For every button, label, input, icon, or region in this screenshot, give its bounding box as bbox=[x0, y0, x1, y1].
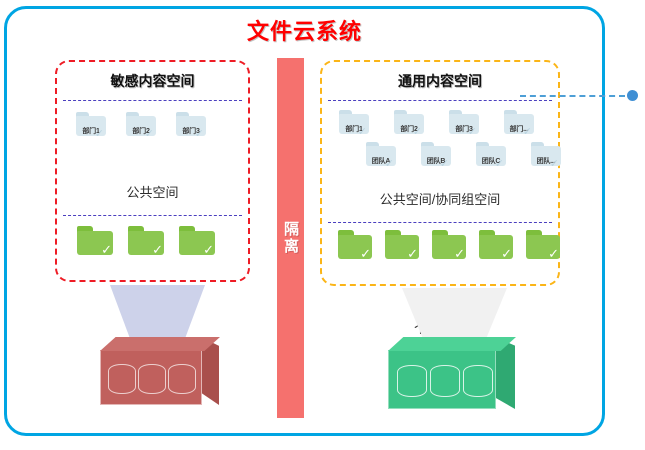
general-public-space-label: 公共空间/协同组空间 bbox=[322, 189, 558, 208]
page-title: 文件云系统 bbox=[0, 14, 609, 46]
check-icon: ✓ bbox=[95, 129, 104, 140]
check-icon: ✓ bbox=[413, 127, 422, 138]
general-panel-divider-top bbox=[328, 100, 552, 101]
check-icon: ✓ bbox=[501, 247, 512, 260]
general-dept-folder-row: 部门1 ✓ 部门2 ✓ 部门3 ✓ 部门... ✓ bbox=[339, 110, 534, 134]
storage-top-face bbox=[388, 337, 516, 351]
check-icon: ✓ bbox=[523, 127, 532, 138]
check-icon: ✓ bbox=[385, 159, 394, 170]
general-panel-divider-mid bbox=[328, 222, 552, 223]
sensitive-panel-divider-top bbox=[63, 100, 242, 101]
folder-icon-personal-2[interactable]: ✓ bbox=[385, 230, 419, 259]
database-cylinder-icon bbox=[463, 365, 493, 397]
general-content-space-panel[interactable]: 通用内容空间 部门1 ✓ 部门2 ✓ 部门3 ✓ bbox=[320, 60, 560, 286]
database-cylinder-icon bbox=[430, 365, 460, 397]
database-cylinder-icon bbox=[108, 364, 136, 394]
check-icon: ✓ bbox=[495, 159, 504, 170]
folder-icon-dept-3[interactable]: 部门3 ✓ bbox=[176, 112, 206, 136]
storage-top-face bbox=[100, 337, 220, 351]
check-icon: ✓ bbox=[358, 127, 367, 138]
folder-icon-dept-1[interactable]: 部门1 ✓ bbox=[76, 112, 106, 136]
database-cylinder-icon bbox=[138, 364, 166, 394]
folder-icon-personal-3[interactable]: ✓ bbox=[179, 226, 215, 255]
database-cylinder-icon bbox=[397, 365, 427, 397]
check-icon: ✓ bbox=[440, 159, 449, 170]
isolation-barrier: 隔离 bbox=[277, 58, 304, 418]
folder-icon-personal-2[interactable]: ✓ bbox=[128, 226, 164, 255]
sensitive-personal-folder-row: ✓ ✓ ✓ bbox=[77, 226, 215, 255]
check-icon: ✓ bbox=[407, 247, 418, 260]
folder-icon-team-c[interactable]: 团队C ✓ bbox=[476, 142, 506, 166]
folder-icon-personal-3[interactable]: ✓ bbox=[432, 230, 466, 259]
database-cylinder-icon bbox=[168, 364, 196, 394]
general-personal-folder-row: ✓ ✓ ✓ ✓ ✓ bbox=[338, 230, 560, 259]
check-icon: ✓ bbox=[152, 243, 163, 256]
folder-icon-dept-3[interactable]: 部门3 ✓ bbox=[449, 110, 479, 134]
folder-icon-team-more[interactable]: 团队... ✓ bbox=[531, 142, 561, 166]
folder-icon-personal-1[interactable]: ✓ bbox=[338, 230, 372, 259]
folder-icon-personal-4[interactable]: ✓ bbox=[479, 230, 513, 259]
folder-icon-team-b[interactable]: 团队B ✓ bbox=[421, 142, 451, 166]
check-icon: ✓ bbox=[203, 243, 214, 256]
folder-icon-personal-5[interactable]: ✓ bbox=[526, 230, 560, 259]
check-icon: ✓ bbox=[548, 247, 559, 260]
folder-icon-dept-more[interactable]: 部门... ✓ bbox=[504, 110, 534, 134]
check-icon: ✓ bbox=[195, 129, 204, 140]
callout-endpoint-dot[interactable] bbox=[627, 90, 638, 101]
sensitive-panel-divider-mid bbox=[63, 215, 242, 216]
sensitive-dept-folder-row: 部门1 ✓ 部门2 ✓ 部门3 ✓ bbox=[76, 112, 206, 136]
sensitive-content-space-panel[interactable]: 敏感内容空间 部门1 ✓ 部门2 ✓ 部门3 ✓ bbox=[55, 60, 250, 282]
check-icon: ✓ bbox=[468, 127, 477, 138]
folder-icon-personal-1[interactable]: ✓ bbox=[77, 226, 113, 255]
isolation-label: 隔离 bbox=[280, 221, 301, 255]
folder-icon-dept-2[interactable]: 部门2 ✓ bbox=[394, 110, 424, 134]
folder-icon-dept-1[interactable]: 部门1 ✓ bbox=[339, 110, 369, 134]
general-storage-box bbox=[388, 337, 516, 413]
diagram-canvas: 文件云系统 敏感内容空间 部门1 ✓ 部门2 ✓ 部门3 bbox=[0, 0, 645, 450]
callout-connector-line bbox=[520, 95, 625, 97]
folder-icon-dept-2[interactable]: 部门2 ✓ bbox=[126, 112, 156, 136]
check-icon: ✓ bbox=[550, 159, 559, 170]
sensitive-panel-title: 敏感内容空间 bbox=[57, 62, 248, 100]
check-icon: ✓ bbox=[101, 243, 112, 256]
sensitive-storage-box bbox=[100, 337, 220, 409]
general-team-folder-row: 团队A ✓ 团队B ✓ 团队C ✓ 团队... ✓ bbox=[366, 142, 561, 166]
check-icon: ✓ bbox=[145, 129, 154, 140]
check-icon: ✓ bbox=[360, 247, 371, 260]
check-icon: ✓ bbox=[454, 247, 465, 260]
folder-icon-team-a[interactable]: 团队A ✓ bbox=[366, 142, 396, 166]
sensitive-public-space-label: 公共空间 bbox=[57, 182, 248, 201]
